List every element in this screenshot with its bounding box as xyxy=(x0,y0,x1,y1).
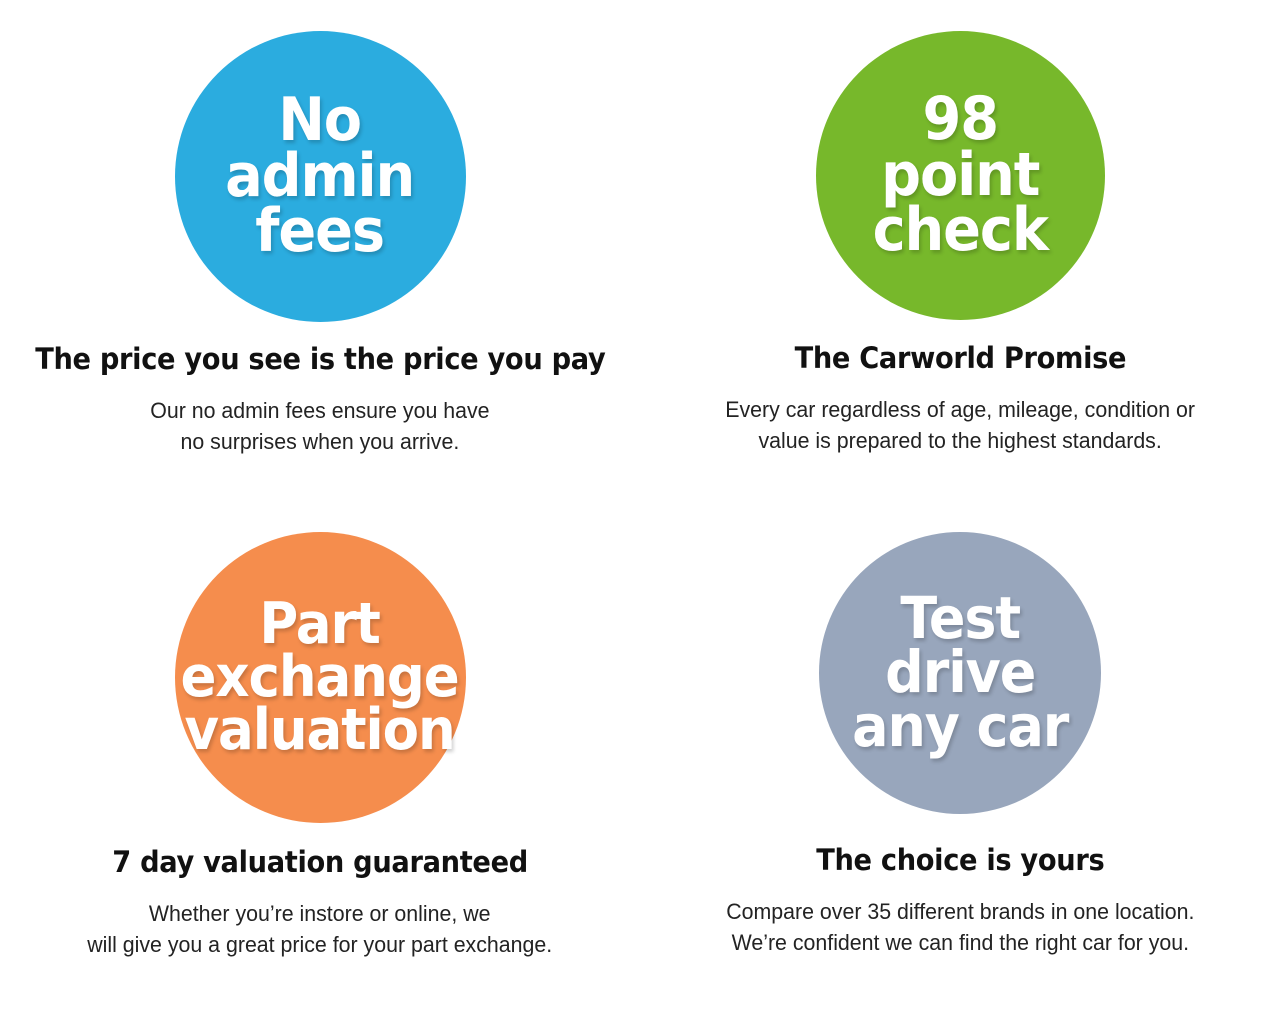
badge-label: Part exchange valuation xyxy=(181,598,459,757)
usp-body: Compare over 35 different brands in one … xyxy=(726,896,1194,958)
usp-body: Whether you’re instore or online, we wil… xyxy=(88,898,553,960)
badge-label: No admin fees xyxy=(225,93,414,260)
usp-card-no-admin-fees: No admin fees The price you see is the p… xyxy=(0,0,640,512)
usp-body: Every car regardless of age, mileage, co… xyxy=(725,394,1195,456)
usp-card-98-point-check: 98 point check The Carworld Promise Ever… xyxy=(640,0,1280,512)
usp-heading: The price you see is the price you pay xyxy=(35,344,605,376)
usp-card-test-drive-any-car: Test drive any car The choice is yours C… xyxy=(640,512,1280,1024)
part-exchange-valuation-badge: Part exchange valuation xyxy=(175,532,466,823)
usp-heading: The Carworld Promise xyxy=(794,343,1126,375)
98-point-check-badge: 98 point check xyxy=(816,31,1105,320)
badge-label: 98 point check xyxy=(872,92,1047,259)
usp-body: Our no admin fees ensure you have no sur… xyxy=(150,395,489,457)
badge-label: Test drive any car xyxy=(852,592,1068,754)
no-admin-fees-badge: No admin fees xyxy=(175,31,466,322)
usp-heading: 7 day valuation guaranteed xyxy=(112,847,528,879)
usp-grid: No admin fees The price you see is the p… xyxy=(0,0,1280,1024)
usp-card-part-exchange-valuation: Part exchange valuation 7 day valuation … xyxy=(0,512,640,1024)
test-drive-any-car-badge: Test drive any car xyxy=(819,532,1101,814)
usp-heading: The choice is yours xyxy=(816,845,1104,877)
